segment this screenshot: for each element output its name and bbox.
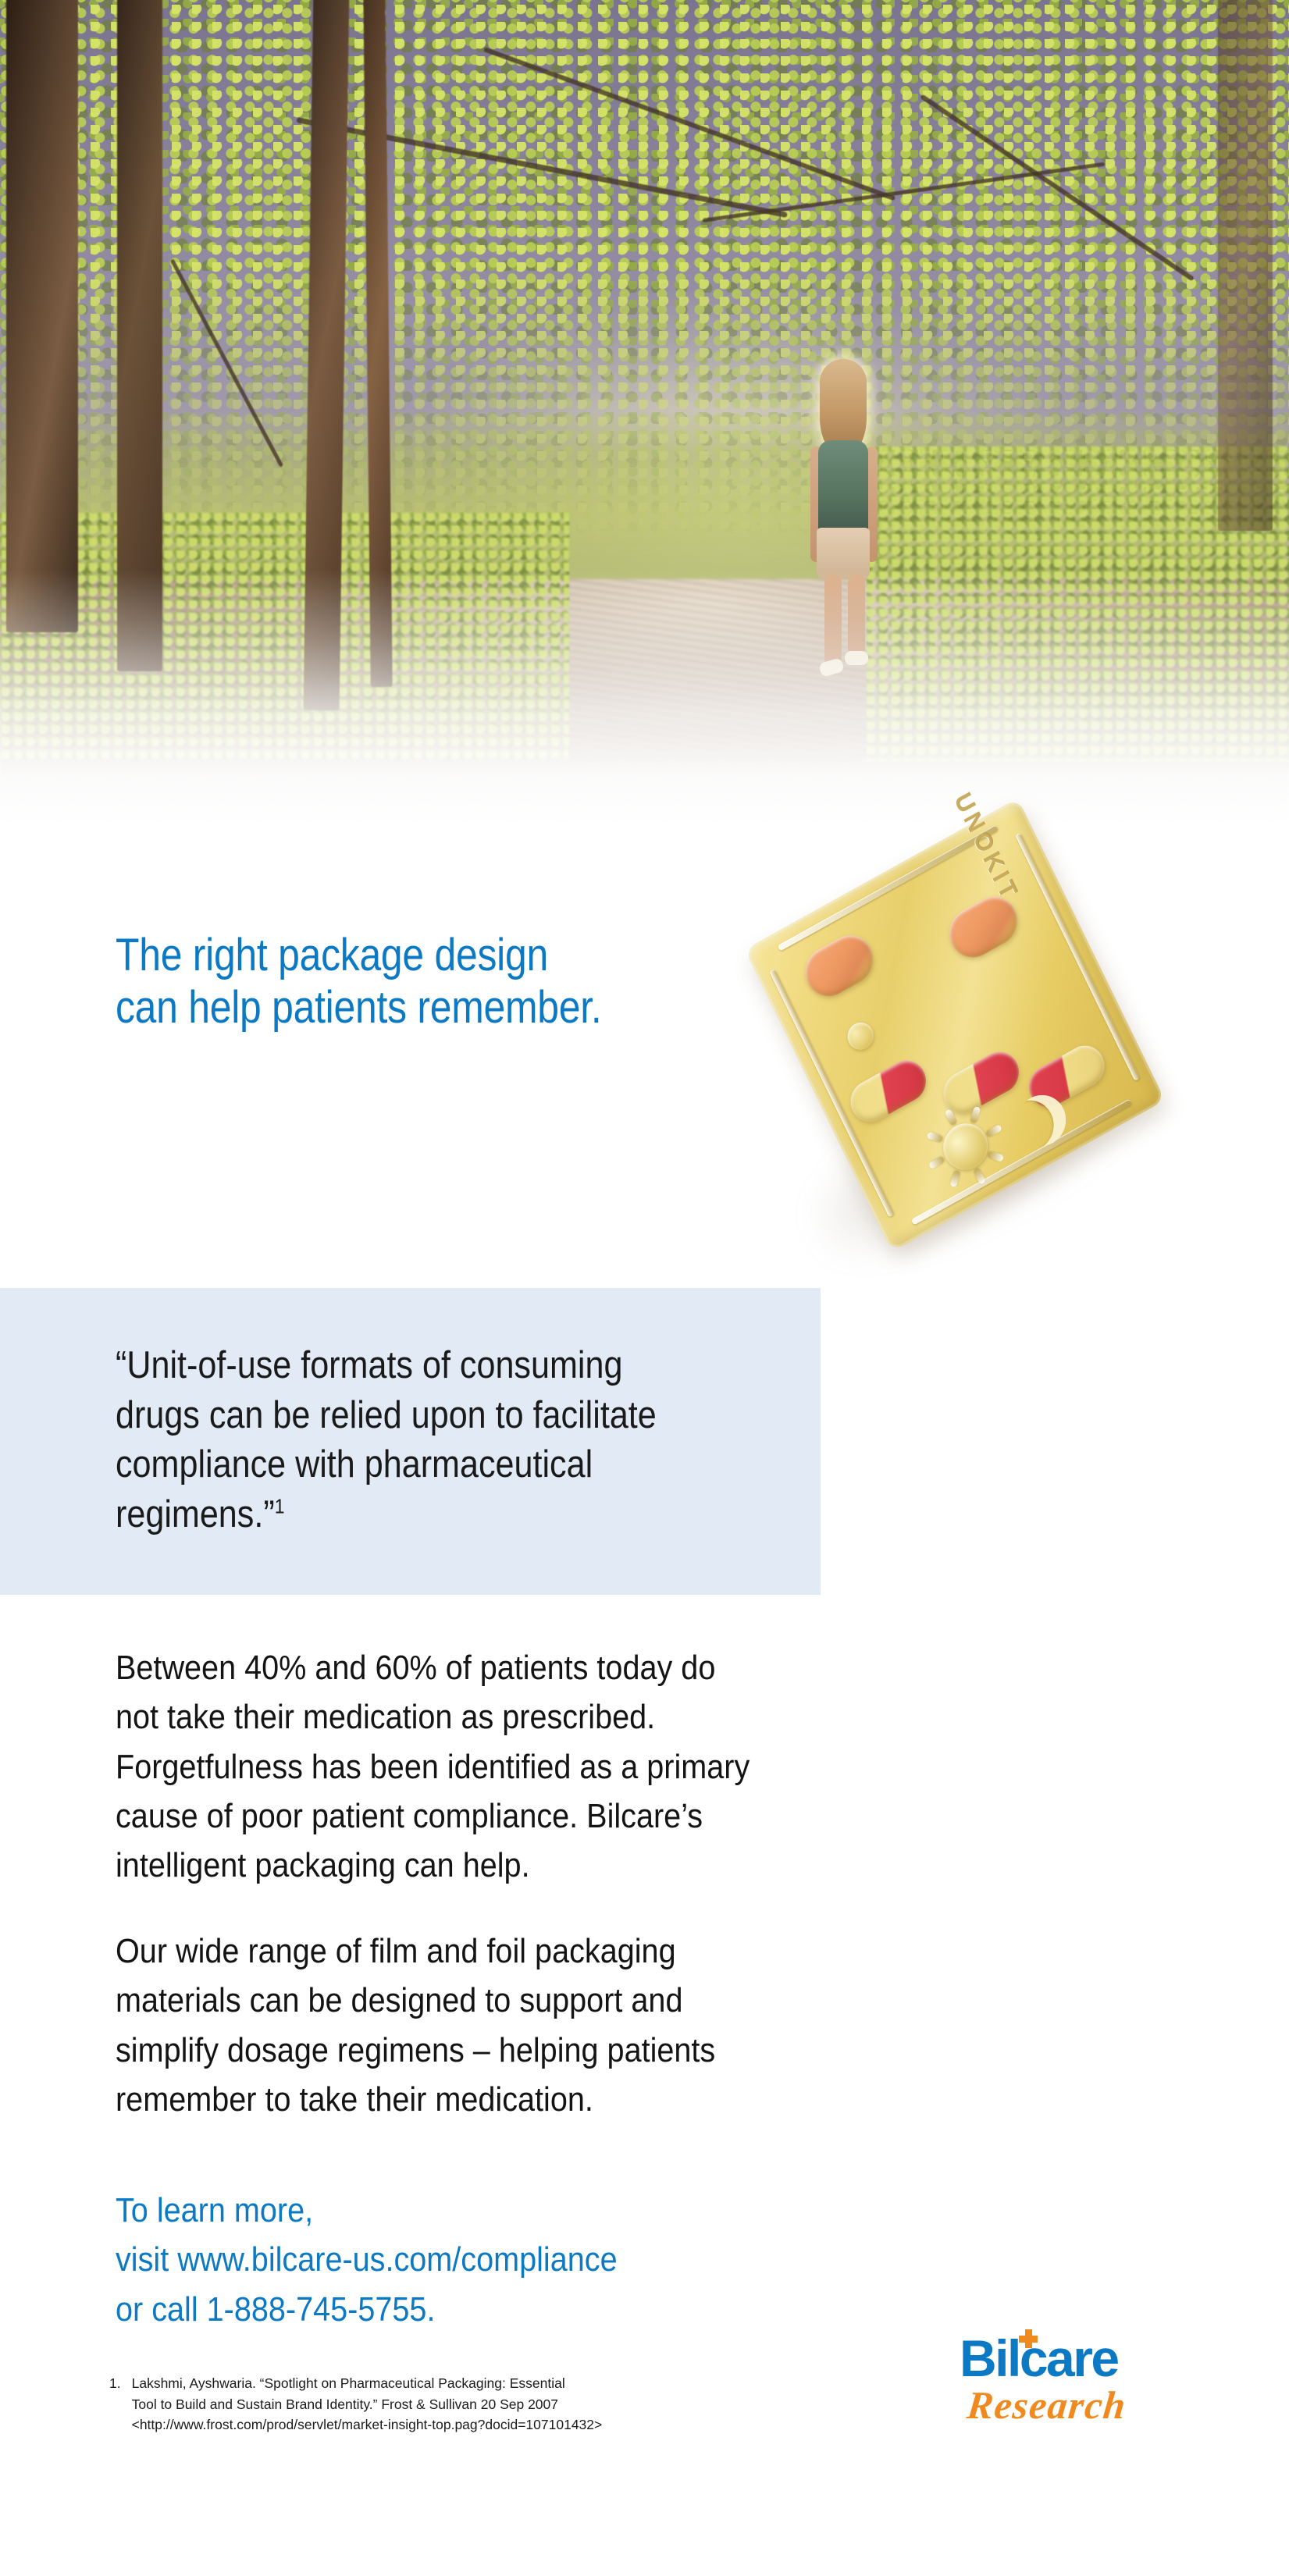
footnote-source-url: <http://www.frost.com/prod/servlet/marke… [132, 2414, 890, 2435]
sun-disc [936, 1115, 995, 1178]
advertisement-page: The right package design can help patien… [0, 0, 1289, 2576]
tree-trunk [6, 0, 78, 632]
footnote-body: Lakshmi, Ayshwaria. “Spotlight on Pharma… [132, 2373, 890, 2435]
tear-guide-rib [1015, 832, 1141, 1081]
sun-ray [928, 1156, 945, 1170]
tablet-dose [797, 927, 881, 1005]
footnote-marker: 1. [109, 2373, 121, 2435]
photo-white-fade [0, 570, 1289, 827]
girl-shirt [818, 440, 868, 535]
footnote-line-1: Lakshmi, Ayshwaria. “Spotlight on Pharma… [132, 2373, 890, 2394]
footnote: 1. Lakshmi, Ayshwaria. “Spotlight on Pha… [109, 2373, 890, 2435]
body-copy: Between 40% and 60% of patients today do… [116, 1643, 762, 2124]
logo-wordmark: Bilcare [960, 2332, 1118, 2384]
headline-line-1: The right package design [116, 929, 666, 981]
tablet-dose [942, 888, 1026, 966]
footnote-line-2: Tool to Build and Sustain Brand Identity… [132, 2394, 890, 2415]
quote-footnote-marker: 1 [275, 1495, 285, 1518]
cta-line-1: To learn more, [116, 2186, 762, 2235]
cta-phone-number[interactable]: or call 1-888-745-5755. [116, 2285, 762, 2334]
capsule-dose [844, 1053, 933, 1129]
bilcare-logo: Bilcare Research [960, 2332, 1241, 2428]
leaf-canopy [0, 0, 1289, 549]
hero-photo [0, 0, 1289, 827]
cta-website-link[interactable]: visit www.bilcare-us.com/compliance [116, 2235, 762, 2284]
blister-pack-image: UNOKIT [707, 827, 1253, 1265]
logo-tagline: Research [965, 2386, 1242, 2425]
pull-quote-text: “Unit-of-use formats of consuming drugs … [116, 1344, 657, 1535]
pip-dose [843, 1018, 878, 1055]
sun-ray [949, 1170, 961, 1187]
sun-ray [988, 1151, 1004, 1162]
sun-ray [973, 1168, 986, 1185]
logo-wordmark-text: Bilcare [960, 2329, 1118, 2387]
body-paragraph-2: Our wide range of film and foil packagin… [116, 1927, 762, 2124]
headline-line-2: can help patients remember. [116, 981, 666, 1034]
girl-hair [820, 359, 867, 453]
tree-trunk [1218, 0, 1273, 531]
plus-cross-icon [1019, 2329, 1038, 2348]
body-paragraph-1: Between 40% and 60% of patients today do… [116, 1643, 762, 1891]
sun-ray [970, 1106, 981, 1123]
sun-ray [945, 1108, 958, 1126]
pull-quote: “Unit-of-use formats of consuming drugs … [116, 1341, 707, 1540]
headline: The right package design can help patien… [116, 929, 666, 1034]
call-to-action[interactable]: To learn more, visit www.bilcare-us.com/… [116, 2186, 762, 2334]
sun-ray [927, 1131, 943, 1143]
sun-ray [985, 1124, 1002, 1138]
quote-panel: “Unit-of-use formats of consuming drugs … [0, 1288, 821, 1595]
